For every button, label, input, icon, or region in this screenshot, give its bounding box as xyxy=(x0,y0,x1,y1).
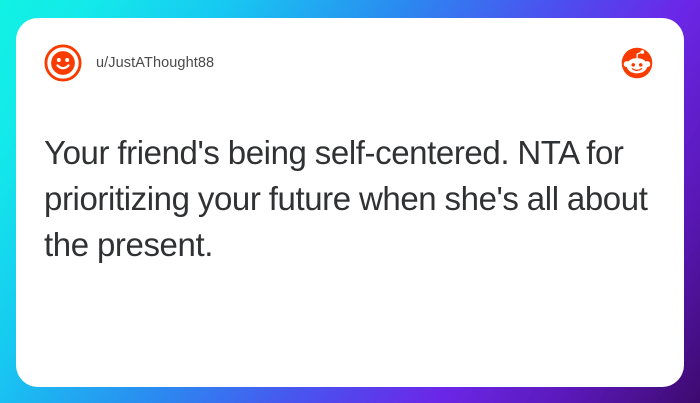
post-text: Your friend's being self-centered. NTA f… xyxy=(44,130,650,268)
reddit-post-card: u/JustAThought88 Your friend's bei xyxy=(16,18,684,387)
reddit-snoo-logo-icon[interactable] xyxy=(620,46,654,80)
post-card-body: Your friend's being self-centered. NTA f… xyxy=(44,130,656,268)
author-block[interactable]: u/JustAThought88 xyxy=(44,44,214,82)
post-author-username: u/JustAThought88 xyxy=(96,55,214,71)
smiley-face-avatar-icon xyxy=(44,44,82,82)
post-card-header: u/JustAThought88 xyxy=(44,40,656,86)
post-image-canvas: u/JustAThought88 Your friend's bei xyxy=(0,0,700,403)
